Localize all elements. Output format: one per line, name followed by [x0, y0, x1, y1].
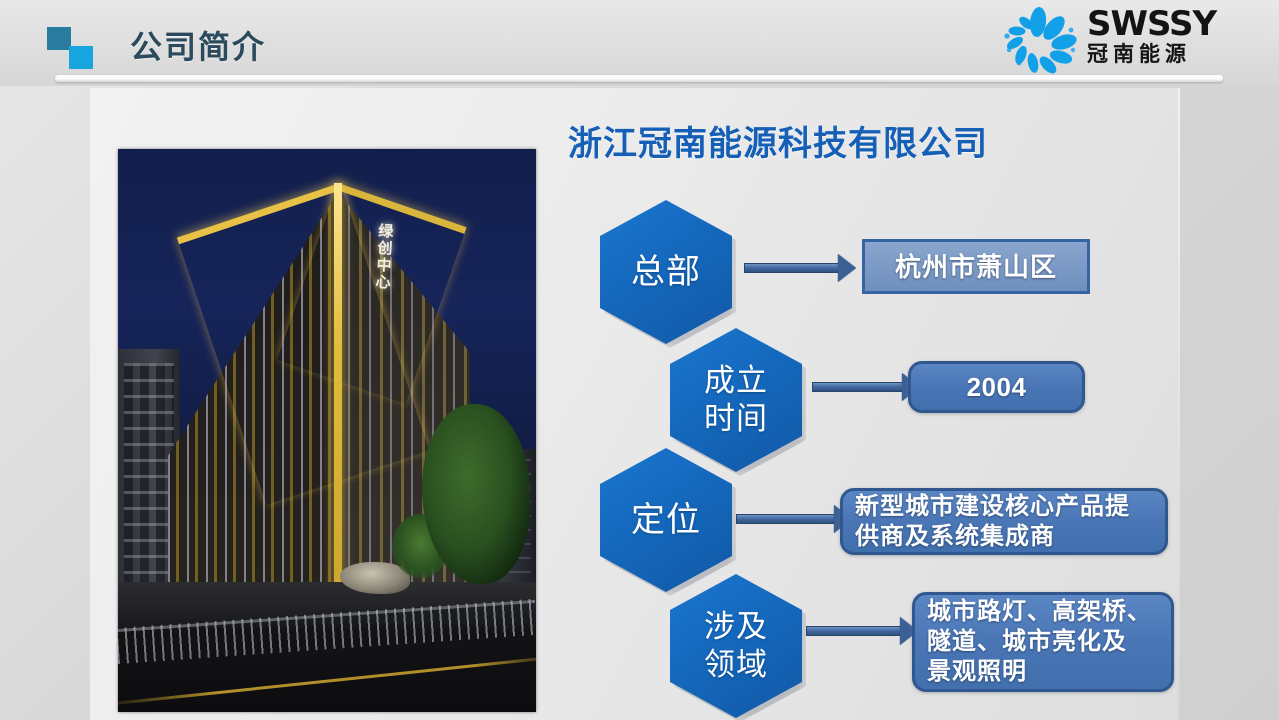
header-square-marker-icon	[47, 27, 101, 69]
header-divider-rule	[55, 75, 1223, 82]
flow-arrow-head-1	[838, 254, 856, 282]
header-square-light	[69, 46, 93, 69]
flow-hexagon-label-2-line2: 时间	[704, 400, 768, 438]
logo-wordmark: SWSSY	[1087, 6, 1263, 42]
flow-arrow-2	[812, 373, 920, 401]
page-title: 公司简介	[130, 22, 266, 68]
flow-callout-text-4-line2: 隧道、城市亮化及	[927, 628, 1127, 655]
flow-arrow-4	[806, 617, 918, 645]
flow-hexagon-label-1: 总部	[631, 252, 701, 292]
company-name-heading: 浙江冠南能源科技有限公司	[568, 116, 988, 165]
flow-callout-year[interactable]: 2004	[908, 361, 1085, 413]
logo-subtitle: 冠南能源	[1087, 42, 1263, 68]
company-logo: SWSSY 冠南能源	[995, 4, 1265, 76]
logo-text-block: SWSSY 冠南能源	[1087, 6, 1263, 68]
flow-callout-text-4: 城市路灯、高架桥、 隧道、城市亮化及 景观照明	[927, 597, 1152, 687]
water-droplet-swirl-icon	[995, 6, 1081, 74]
slide-header: 公司简介	[0, 0, 1279, 86]
headquarters-building-photo: 绿创中心 绿创中心 LVCHUANG CENTER	[118, 149, 536, 712]
flow-hexagon-label-4: 涉及 领域	[704, 608, 768, 684]
flow-callout-positioning[interactable]: 新型城市建设核心产品提 供商及系统集成商	[840, 488, 1168, 555]
flow-hexagon-label-4-line2: 领域	[704, 646, 768, 684]
flow-arrow-1	[744, 254, 856, 282]
flow-arrow-shaft-2	[812, 382, 904, 392]
flow-callout-text-3-line1: 新型城市建设核心产品提	[855, 493, 1130, 520]
flow-callout-fields[interactable]: 城市路灯、高架桥、 隧道、城市亮化及 景观照明	[912, 592, 1174, 692]
flow-callout-text-1: 杭州市萧山区	[895, 251, 1057, 283]
flow-callout-text-4-line3: 景观照明	[927, 658, 1027, 685]
header-square-dark	[47, 27, 71, 50]
panel-right-edge	[1178, 88, 1180, 720]
flow-arrow-shaft-4	[806, 626, 902, 636]
tower-vertical-sign: 绿创中心	[372, 223, 395, 292]
flow-hexagon-label-3: 定位	[631, 500, 701, 540]
flow-callout-text-3-line2: 供商及系统集成商	[855, 523, 1055, 550]
slide: 公司简介	[0, 0, 1279, 720]
flow-callout-text-3: 新型城市建设核心产品提 供商及系统集成商	[855, 492, 1130, 552]
flow-arrow-shaft-1	[744, 263, 840, 273]
flow-callout-text-2: 2004	[911, 371, 1082, 403]
flow-hexagon-label-2: 成立 时间	[704, 362, 768, 438]
flow-arrow-3	[736, 505, 852, 533]
flow-hexagon-label-2-line1: 成立	[704, 362, 768, 400]
flow-arrow-shaft-3	[736, 514, 836, 524]
flow-callout-text-4-line1: 城市路灯、高架桥、	[927, 598, 1152, 625]
flow-callout-location[interactable]: 杭州市萧山区	[862, 239, 1090, 294]
flow-hexagon-label-4-line1: 涉及	[704, 608, 768, 646]
